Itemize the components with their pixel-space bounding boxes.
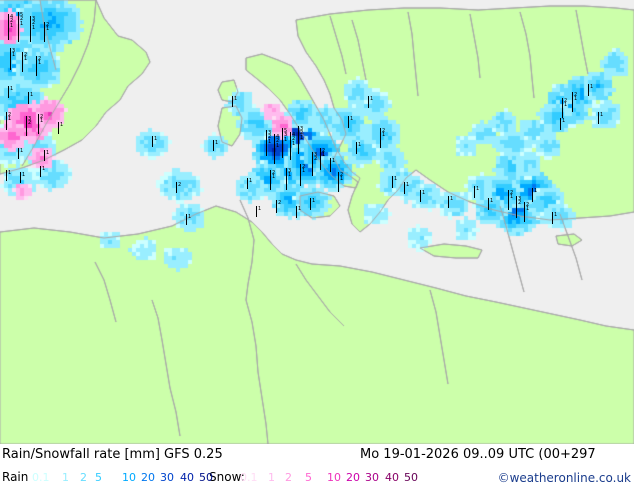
legend-rain-value-2: 2 — [80, 471, 87, 484]
footer-title-row: Rain/Snowfall rate [mm] GFS 0.25 Mo 19-0… — [0, 446, 634, 466]
precipitation-map-canvas[interactable] — [0, 0, 634, 444]
legend-snow-value-0: 0.1 — [240, 471, 258, 484]
legend-rain-value-1: 1 — [62, 471, 69, 484]
legend-snow-value-5: 20 — [346, 471, 360, 484]
map-area[interactable]: 4 2 15 2 13 2 12 13 12 12 1112 13 22 111… — [0, 0, 634, 444]
legend-snow-value-4: 10 — [327, 471, 341, 484]
legend-rain-value-8: 50 — [199, 471, 213, 484]
legend-rain-label: Rain — [2, 470, 28, 484]
legend-rain-value-6: 30 — [160, 471, 174, 484]
legend-row: Rain Snow: ©weatheronline.co.uk 0.112510… — [0, 468, 634, 488]
legend-rain-value-5: 20 — [141, 471, 155, 484]
legend-snow-value-6: 30 — [365, 471, 379, 484]
legend-rain-value-7: 40 — [180, 471, 194, 484]
legend-snow-value-2: 2 — [285, 471, 292, 484]
copyright-notice: ©weatheronline.co.uk — [498, 471, 631, 485]
legend-rain-value-0: 0.1 — [32, 471, 50, 484]
map-footer: Rain/Snowfall rate [mm] GFS 0.25 Mo 19-0… — [0, 444, 634, 490]
legend-rain-value-3: 5 — [95, 471, 102, 484]
model-run-timestamp: Mo 19-01-2026 09..09 UTC (00+297 — [360, 447, 596, 462]
legend-snow-value-1: 1 — [268, 471, 275, 484]
legend-snow-value-3: 5 — [305, 471, 312, 484]
chart-title: Rain/Snowfall rate [mm] GFS 0.25 — [2, 447, 223, 462]
weather-map-page: 4 2 15 2 13 2 12 13 12 12 1112 13 22 111… — [0, 0, 634, 490]
legend-snow-value-8: 50 — [404, 471, 418, 484]
legend-snow-value-7: 40 — [385, 471, 399, 484]
legend-rain-value-4: 10 — [122, 471, 136, 484]
